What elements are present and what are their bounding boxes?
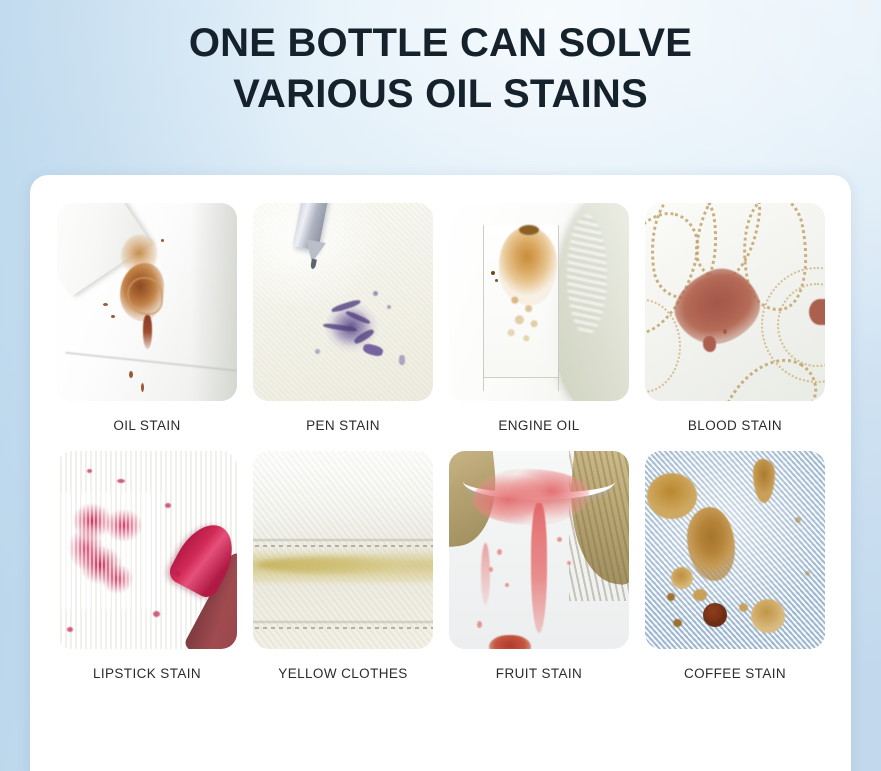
stain-cell-fruit-stain[interactable]: FRUIT STAIN — [449, 451, 629, 681]
page-title-line-2: VARIOUS OIL STAINS — [0, 69, 881, 120]
coffee-stain-photo[interactable] — [645, 451, 825, 649]
stain-caption: FRUIT STAIN — [449, 666, 629, 681]
blood-stain-photo[interactable] — [645, 203, 825, 401]
stain-cell-yellow-clothes[interactable]: YELLOW CLOTHES — [253, 451, 433, 681]
pen-stain-photo[interactable] — [253, 203, 433, 401]
oil-stain-photo[interactable] — [57, 203, 237, 401]
stain-caption: ENGINE OIL — [449, 418, 629, 433]
page-title-line-1: ONE BOTTLE CAN SOLVE — [0, 18, 881, 69]
engine-oil-photo[interactable] — [449, 203, 629, 401]
stain-cell-blood-stain[interactable]: BLOOD STAIN — [645, 203, 825, 433]
stain-caption: LIPSTICK STAIN — [57, 666, 237, 681]
stain-cell-oil-stain[interactable]: OIL STAIN — [57, 203, 237, 433]
stain-gallery-card: OIL STAIN — [30, 175, 851, 771]
lipstick-stain-photo[interactable] — [57, 451, 237, 649]
stain-cell-engine-oil[interactable]: ENGINE OIL — [449, 203, 629, 433]
fruit-stain-photo[interactable] — [449, 451, 629, 649]
promo-page: ONE BOTTLE CAN SOLVE VARIOUS OIL STAINS — [0, 0, 881, 771]
stain-caption: BLOOD STAIN — [645, 418, 825, 433]
stain-caption: PEN STAIN — [253, 418, 433, 433]
stain-caption: OIL STAIN — [57, 418, 237, 433]
stain-caption: COFFEE STAIN — [645, 666, 825, 681]
stain-caption: YELLOW CLOTHES — [253, 666, 433, 681]
stain-cell-pen-stain[interactable]: PEN STAIN — [253, 203, 433, 433]
page-title: ONE BOTTLE CAN SOLVE VARIOUS OIL STAINS — [0, 18, 881, 120]
stain-grid: OIL STAIN — [57, 203, 825, 681]
stain-cell-coffee-stain[interactable]: COFFEE STAIN — [645, 451, 825, 681]
stain-cell-lipstick-stain[interactable]: LIPSTICK STAIN — [57, 451, 237, 681]
yellow-clothes-photo[interactable] — [253, 451, 433, 649]
